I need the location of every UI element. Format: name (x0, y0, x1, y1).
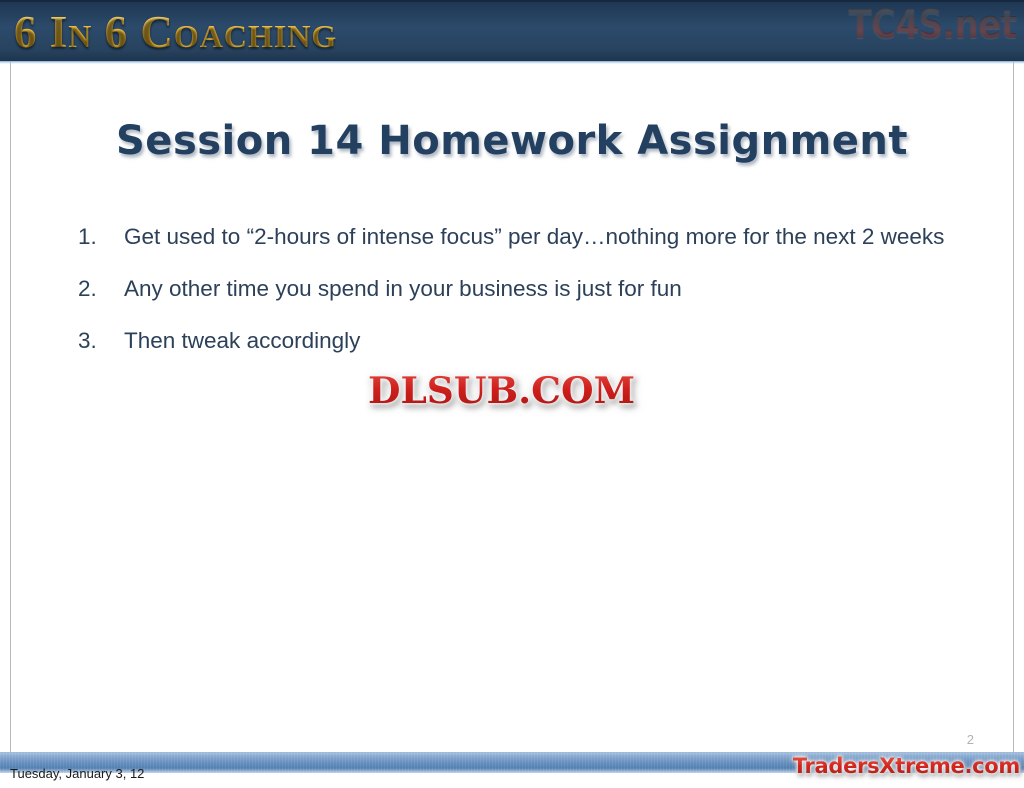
list-item: 1. Get used to “2-hours of intense focus… (78, 222, 983, 252)
list-item-number: 2. (78, 274, 112, 304)
slide-header-banner: 6 In 6 Coaching TC4S.net (0, 0, 1024, 64)
list-item-text: Get used to “2-hours of intense focus” p… (124, 224, 944, 249)
dlsub-watermark: DLSUB.COM (368, 370, 635, 412)
list-item-text: Then tweak accordingly (124, 328, 360, 353)
tc4s-logo: TC4S.net (848, 2, 1016, 48)
slide-border-right (1013, 62, 1014, 772)
list-item-number: 3. (78, 326, 112, 356)
page-title: Session 14 Homework Assignment (0, 118, 1024, 164)
list-item: 2. Any other time you spend in your busi… (78, 274, 983, 304)
page-number: 2 (967, 732, 974, 747)
list-item: 3. Then tweak accordingly (78, 326, 983, 356)
footer-date: Tuesday, January 3, 12 (10, 766, 144, 781)
list-item-text: Any other time you spend in your busines… (124, 276, 682, 301)
list-item-number: 1. (78, 222, 112, 252)
slide-canvas: 6 In 6 Coaching TC4S.net Session 14 Home… (0, 0, 1024, 788)
slide-border-left (10, 62, 11, 772)
brand-title: 6 In 6 Coaching (14, 6, 337, 58)
header-underline (0, 61, 1024, 64)
tradersxtreme-logo: TradersXtreme.com (793, 754, 1020, 778)
homework-list: 1. Get used to “2-hours of intense focus… (78, 222, 983, 378)
